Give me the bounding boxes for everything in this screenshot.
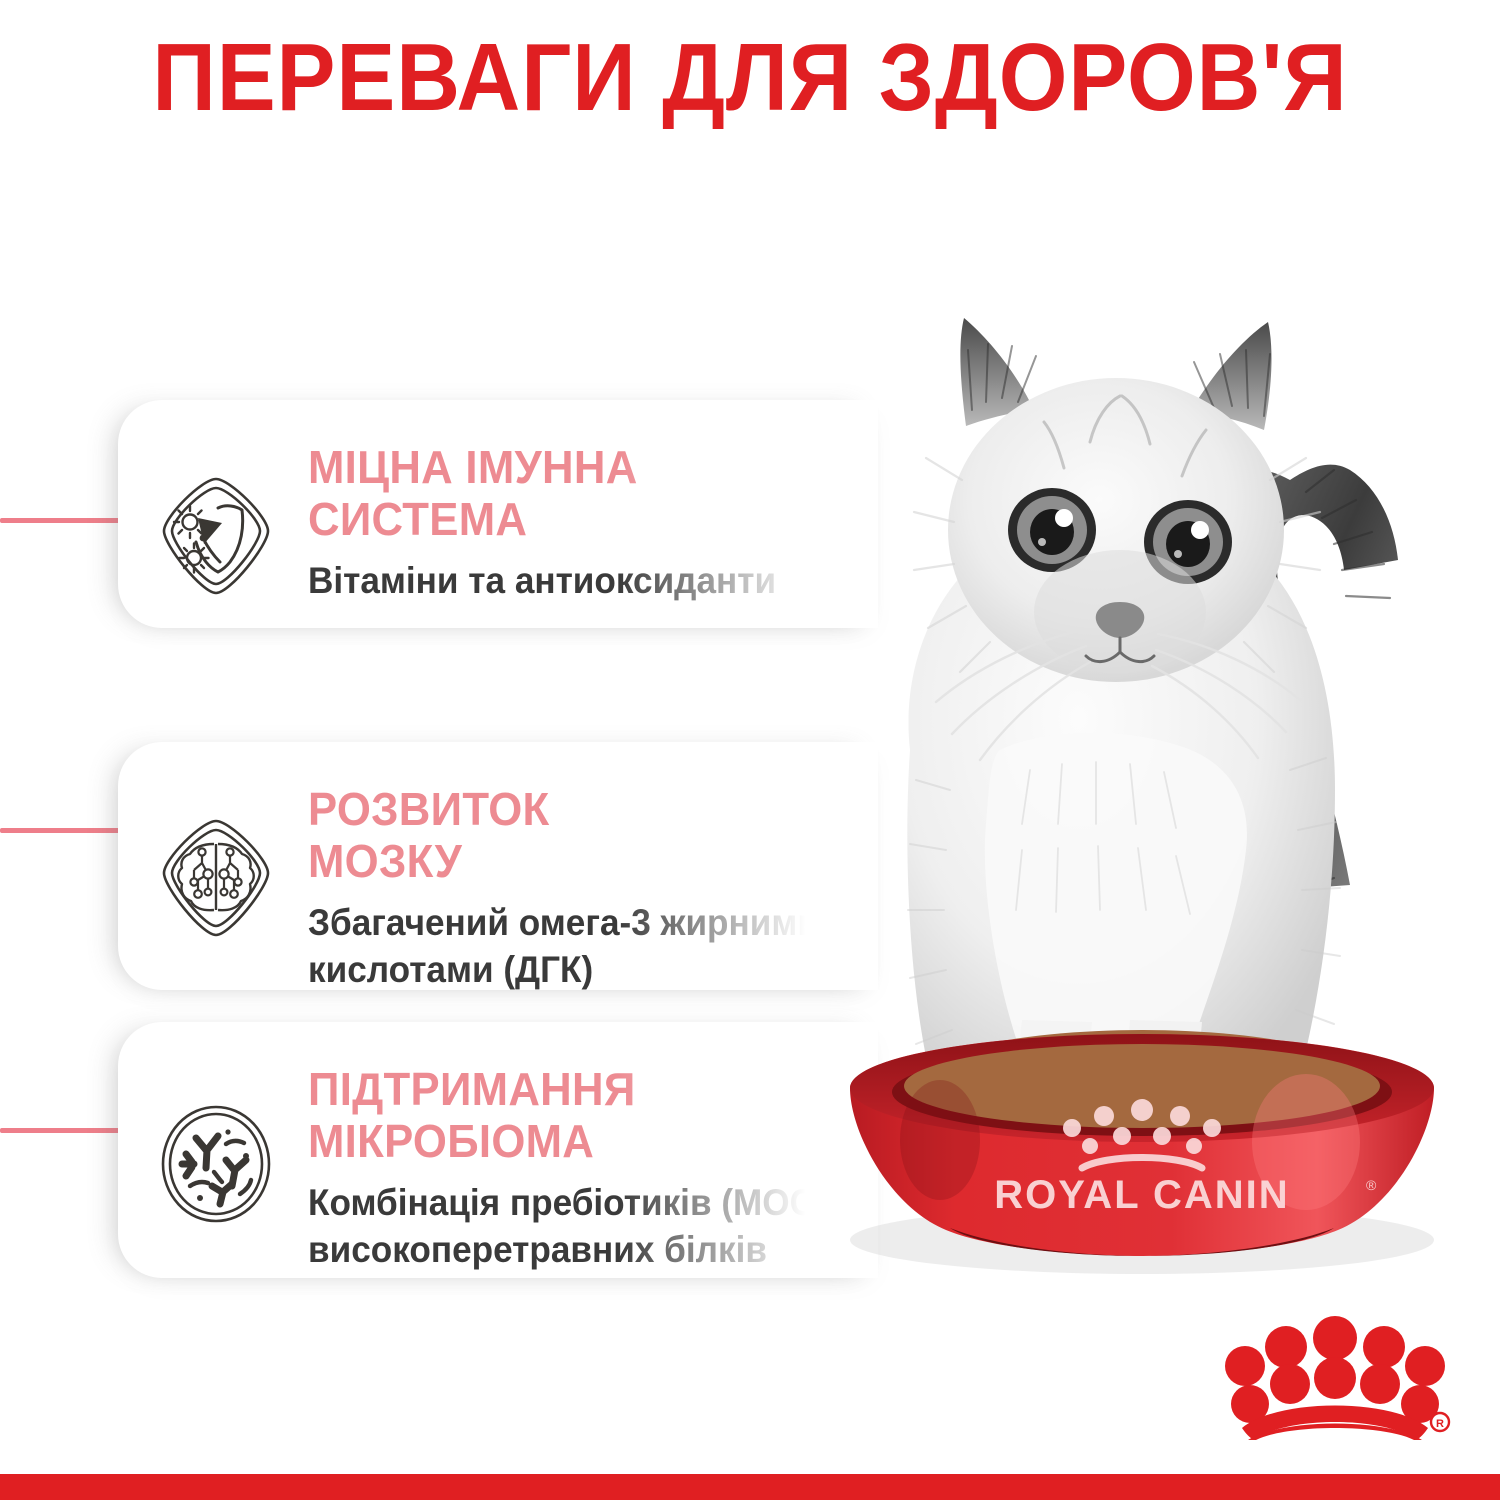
microbiome-icon bbox=[156, 1102, 276, 1226]
benefit-body-brain: Збагачений омега-3 жирними кислотами (ДГ… bbox=[308, 899, 850, 994]
bowl-registered-mark: ® bbox=[1366, 1177, 1377, 1193]
connector-line-immunity bbox=[0, 518, 136, 523]
benefit-heading-microbiome: ПІДТРИМАННЯ МІКРОБІОМА bbox=[308, 1064, 850, 1167]
page-title: ПЕРЕВАГИ ДЛЯ ЗДОРОВ'Я bbox=[60, 28, 1440, 129]
brain-icon bbox=[156, 816, 276, 940]
benefit-body-microbiome: Комбінація пребіотиків (МОС) і високопер… bbox=[308, 1179, 850, 1274]
connector-line-brain bbox=[0, 828, 136, 833]
royal-canin-crown-logo: R bbox=[1218, 1300, 1452, 1440]
benefit-body-immunity: Вітаміни та антиоксиданти bbox=[308, 557, 850, 604]
kitten-with-bowl-photo: ROYAL CANIN ® bbox=[790, 230, 1500, 1300]
bottom-red-bar bbox=[0, 1474, 1500, 1500]
bowl-brand-text: ROYAL CANIN bbox=[994, 1173, 1289, 1217]
benefit-card-immunity: МІЦНА ІМУННА СИСТЕМА Вітаміни та антиокс… bbox=[118, 400, 878, 628]
registered-mark-letter: R bbox=[1436, 1418, 1444, 1430]
benefit-card-microbiome: ПІДТРИМАННЯ МІКРОБІОМА Комбінація пребіо… bbox=[118, 1022, 878, 1278]
benefit-heading-immunity: МІЦНА ІМУННА СИСТЕМА bbox=[308, 442, 850, 545]
benefit-card-brain: РОЗВИТОК МОЗКУ Збагачений омега-3 жирним… bbox=[118, 742, 878, 990]
food-bowl: ROYAL CANIN ® bbox=[850, 1030, 1434, 1274]
immune-shield-icon bbox=[156, 474, 276, 598]
benefit-heading-brain: РОЗВИТОК МОЗКУ bbox=[308, 784, 850, 887]
connector-line-microbiome bbox=[0, 1128, 136, 1133]
